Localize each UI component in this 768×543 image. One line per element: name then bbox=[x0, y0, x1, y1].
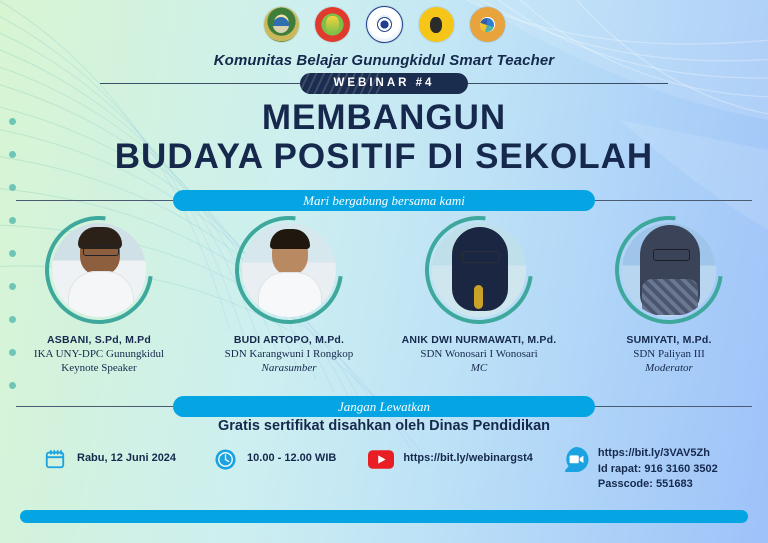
youtube-icon bbox=[368, 446, 394, 472]
zoom-link-item[interactable]: https://bit.ly/3VAV5Zh Id rapat: 916 316… bbox=[563, 446, 718, 493]
youtube-link-item[interactable]: https://bit.ly/webinargst4 bbox=[368, 446, 533, 472]
join-banner: Mari bergabung bersama kami bbox=[173, 190, 595, 211]
webinar-badge-label: WEBINAR #4 bbox=[334, 77, 435, 89]
event-time: 10.00 - 12.00 WIB bbox=[212, 446, 336, 472]
avatar bbox=[242, 223, 336, 317]
join-divider-left bbox=[16, 200, 173, 201]
page-title-line1: MEMBANGUN bbox=[0, 100, 768, 135]
speaker-org: SDN Karangwuni I Rongkop bbox=[225, 347, 354, 361]
speaker-role: Keynote Speaker bbox=[61, 361, 136, 375]
speaker-card: ASBANI, S.Pd, M.Pd IKA UNY-DPC Gunungkid… bbox=[11, 216, 187, 376]
speaker-card: SUMIYATI, M.Pd. SDN Paliyan III Moderato… bbox=[581, 216, 757, 376]
speaker-card: BUDI ARTOPO, M.Pd. SDN Karangwuni I Rong… bbox=[201, 216, 377, 376]
zoom-details[interactable]: https://bit.ly/3VAV5Zh Id rapat: 916 316… bbox=[598, 446, 718, 493]
dont-miss-banner: Jangan Lewatkan bbox=[173, 396, 595, 417]
event-date: Rabu, 12 Juni 2024 bbox=[42, 446, 176, 472]
community-name: Komunitas Belajar Gunungkidul Smart Teac… bbox=[0, 52, 768, 69]
logo-row bbox=[0, 6, 768, 43]
speaker-photo-frame bbox=[425, 216, 533, 324]
dont-miss-banner-row: Jangan Lewatkan bbox=[0, 396, 768, 417]
bottom-accent-bar bbox=[20, 510, 748, 523]
event-info-row: Rabu, 12 Juni 2024 10.00 - 12.00 WIB htt… bbox=[0, 446, 768, 498]
youtube-link-text[interactable]: https://bit.ly/webinargst4 bbox=[403, 446, 533, 467]
event-time-text: 10.00 - 12.00 WIB bbox=[247, 446, 336, 467]
clock-icon bbox=[212, 446, 238, 472]
decorative-dot bbox=[9, 382, 16, 389]
speaker-role: MC bbox=[471, 361, 488, 375]
speaker-name: ASBANI, S.Pd, M.Pd bbox=[47, 334, 151, 347]
speaker-name: BUDI ARTOPO, M.Pd. bbox=[234, 334, 344, 347]
webinar-badge-row: WEBINAR #4 bbox=[0, 72, 768, 94]
photo-sumiyati bbox=[622, 223, 716, 317]
photo-budi-artopo bbox=[242, 223, 336, 317]
speaker-name: SUMIYATI, M.Pd. bbox=[626, 334, 711, 347]
logo-pemkab-gunungkidul bbox=[264, 7, 299, 42]
zoom-passcode: Passcode: 551683 bbox=[598, 477, 718, 493]
badge-divider-right bbox=[468, 83, 668, 84]
speaker-role: Moderator bbox=[645, 361, 693, 375]
webinar-badge: WEBINAR #4 bbox=[300, 73, 469, 94]
free-certificate-text: Gratis sertifikat disahkan oleh Dinas Pe… bbox=[0, 418, 768, 434]
speaker-list: ASBANI, S.Pd, M.Pd IKA UNY-DPC Gunungkid… bbox=[0, 216, 768, 376]
avatar bbox=[52, 223, 146, 317]
photo-anik-dwi-nurmawati bbox=[432, 223, 526, 317]
event-date-text: Rabu, 12 Juni 2024 bbox=[77, 446, 176, 467]
logo-korpri bbox=[419, 7, 454, 42]
zoom-meeting-id: Id rapat: 916 3160 3502 bbox=[598, 462, 718, 478]
logo-gunungkidul-smart-teacher bbox=[470, 7, 505, 42]
speaker-photo-frame bbox=[615, 216, 723, 324]
miss-divider-left bbox=[16, 406, 173, 407]
speaker-photo-frame bbox=[45, 216, 153, 324]
video-camera-icon bbox=[563, 446, 589, 472]
join-banner-row: Mari bergabung bersama kami bbox=[0, 190, 768, 211]
avatar bbox=[622, 223, 716, 317]
logo-pgri bbox=[315, 7, 350, 42]
calendar-icon bbox=[42, 446, 68, 472]
avatar bbox=[432, 223, 526, 317]
badge-divider-left bbox=[100, 83, 300, 84]
speaker-org: IKA UNY-DPC Gunungkidul bbox=[34, 347, 164, 361]
join-divider-right bbox=[595, 200, 752, 201]
speaker-card: ANIK DWI NURMAWATI, M.Pd. SDN Wonosari I… bbox=[391, 216, 567, 376]
speaker-role: Narasumber bbox=[261, 361, 316, 375]
photo-asbani bbox=[52, 223, 146, 317]
speaker-org: SDN Paliyan III bbox=[633, 347, 705, 361]
page-title-line2: BUDAYA POSITIF DI SEKOLAH bbox=[0, 139, 768, 174]
zoom-link-text[interactable]: https://bit.ly/3VAV5Zh bbox=[598, 446, 718, 462]
logo-tut-wuri-handayani bbox=[366, 6, 403, 43]
speaker-name: ANIK DWI NURMAWATI, M.Pd. bbox=[402, 334, 557, 347]
speaker-photo-frame bbox=[235, 216, 343, 324]
miss-divider-right bbox=[595, 406, 752, 407]
webinar-poster: Komunitas Belajar Gunungkidul Smart Teac… bbox=[0, 0, 768, 543]
speaker-org: SDN Wonosari I Wonosari bbox=[420, 347, 537, 361]
